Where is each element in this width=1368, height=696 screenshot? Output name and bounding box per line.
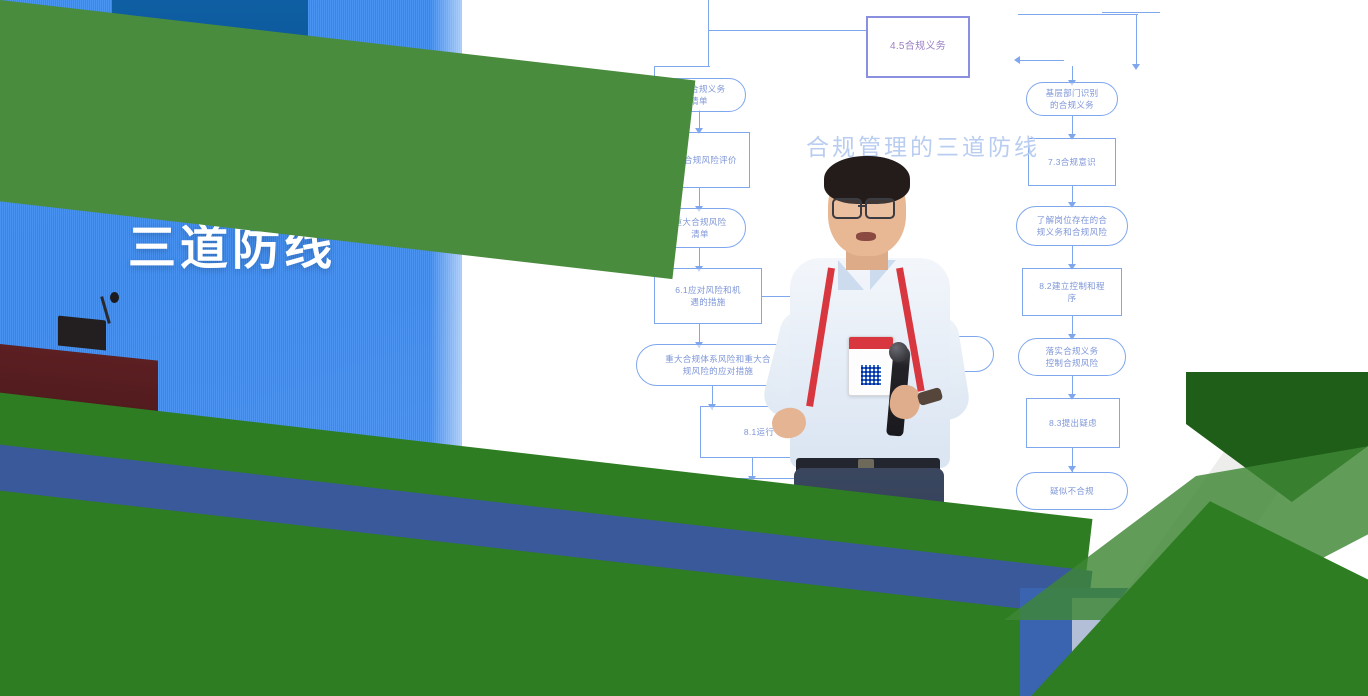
microphone-icon bbox=[110, 292, 119, 303]
flow-node-label: 重大合规风险 清单 bbox=[674, 216, 727, 241]
flow-connector bbox=[708, 0, 709, 30]
glasses-icon bbox=[865, 198, 895, 219]
flow-node-label: 落实合规义务 控制合规风险 bbox=[1046, 345, 1099, 370]
glasses-bridge bbox=[858, 205, 865, 207]
badge-header-band bbox=[849, 337, 893, 349]
flow-connector bbox=[1018, 60, 1064, 61]
glasses-icon bbox=[832, 198, 862, 219]
flow-node-post-awareness[interactable]: 了解岗位存在的合 规义务和合规风险 bbox=[1016, 206, 1128, 246]
flow-node-label: 基层部门识别 的合规义务 bbox=[1046, 87, 1099, 112]
flow-node-label: 8.3提出疑虑 bbox=[1049, 417, 1097, 429]
flow-node-label: 了解岗位存在的合 规义务和合规风险 bbox=[1037, 214, 1107, 239]
flow-node-label: 疑似不合规 bbox=[1050, 485, 1094, 497]
flow-node-7-3[interactable]: 7.3合规意识 bbox=[1028, 138, 1116, 186]
flow-connector bbox=[1136, 14, 1137, 66]
flow-arrow bbox=[1132, 64, 1140, 70]
flow-node-8-3[interactable]: 8.3提出疑虑 bbox=[1026, 398, 1120, 448]
speaker-badge bbox=[848, 336, 894, 396]
flow-node-dept-duty[interactable]: 基层部门识别 的合规义务 bbox=[1026, 82, 1118, 116]
flow-node-4-5[interactable]: 4.5合规义务 bbox=[866, 16, 970, 78]
speaker-mouth bbox=[856, 232, 876, 241]
flow-node-label: 重大合规体系风险和重大合 规风险的应对措施 bbox=[665, 353, 771, 378]
conference-stage-screenshot: 合规管理的 三道防线 ® ICAS 英格尔认证 bbox=[0, 0, 1368, 696]
flow-node-suspected-noncompliance[interactable]: 疑似不合规 bbox=[1016, 472, 1128, 510]
qr-code-icon bbox=[861, 365, 881, 385]
flow-node-implement-control[interactable]: 落实合规义务 控制合规风险 bbox=[1018, 338, 1126, 376]
screen-right-white-area bbox=[1160, 0, 1368, 380]
flow-node-8-2[interactable]: 8.2建立控制和程 序 bbox=[1022, 268, 1122, 316]
flow-node-label: 6.1应对风险和机 遇的措施 bbox=[675, 284, 741, 309]
flow-connector bbox=[708, 30, 709, 66]
flow-node-label: 4.5合规义务 bbox=[890, 40, 946, 55]
flow-node-label: 7.3合规意识 bbox=[1048, 156, 1096, 168]
podium-top-panel bbox=[58, 315, 106, 350]
flow-node-label: 8.2建立控制和程 序 bbox=[1039, 280, 1105, 305]
speaker-hair bbox=[824, 156, 910, 204]
flow-connector bbox=[654, 66, 710, 67]
flow-arrow bbox=[1014, 56, 1020, 64]
flow-connector bbox=[1018, 14, 1138, 15]
